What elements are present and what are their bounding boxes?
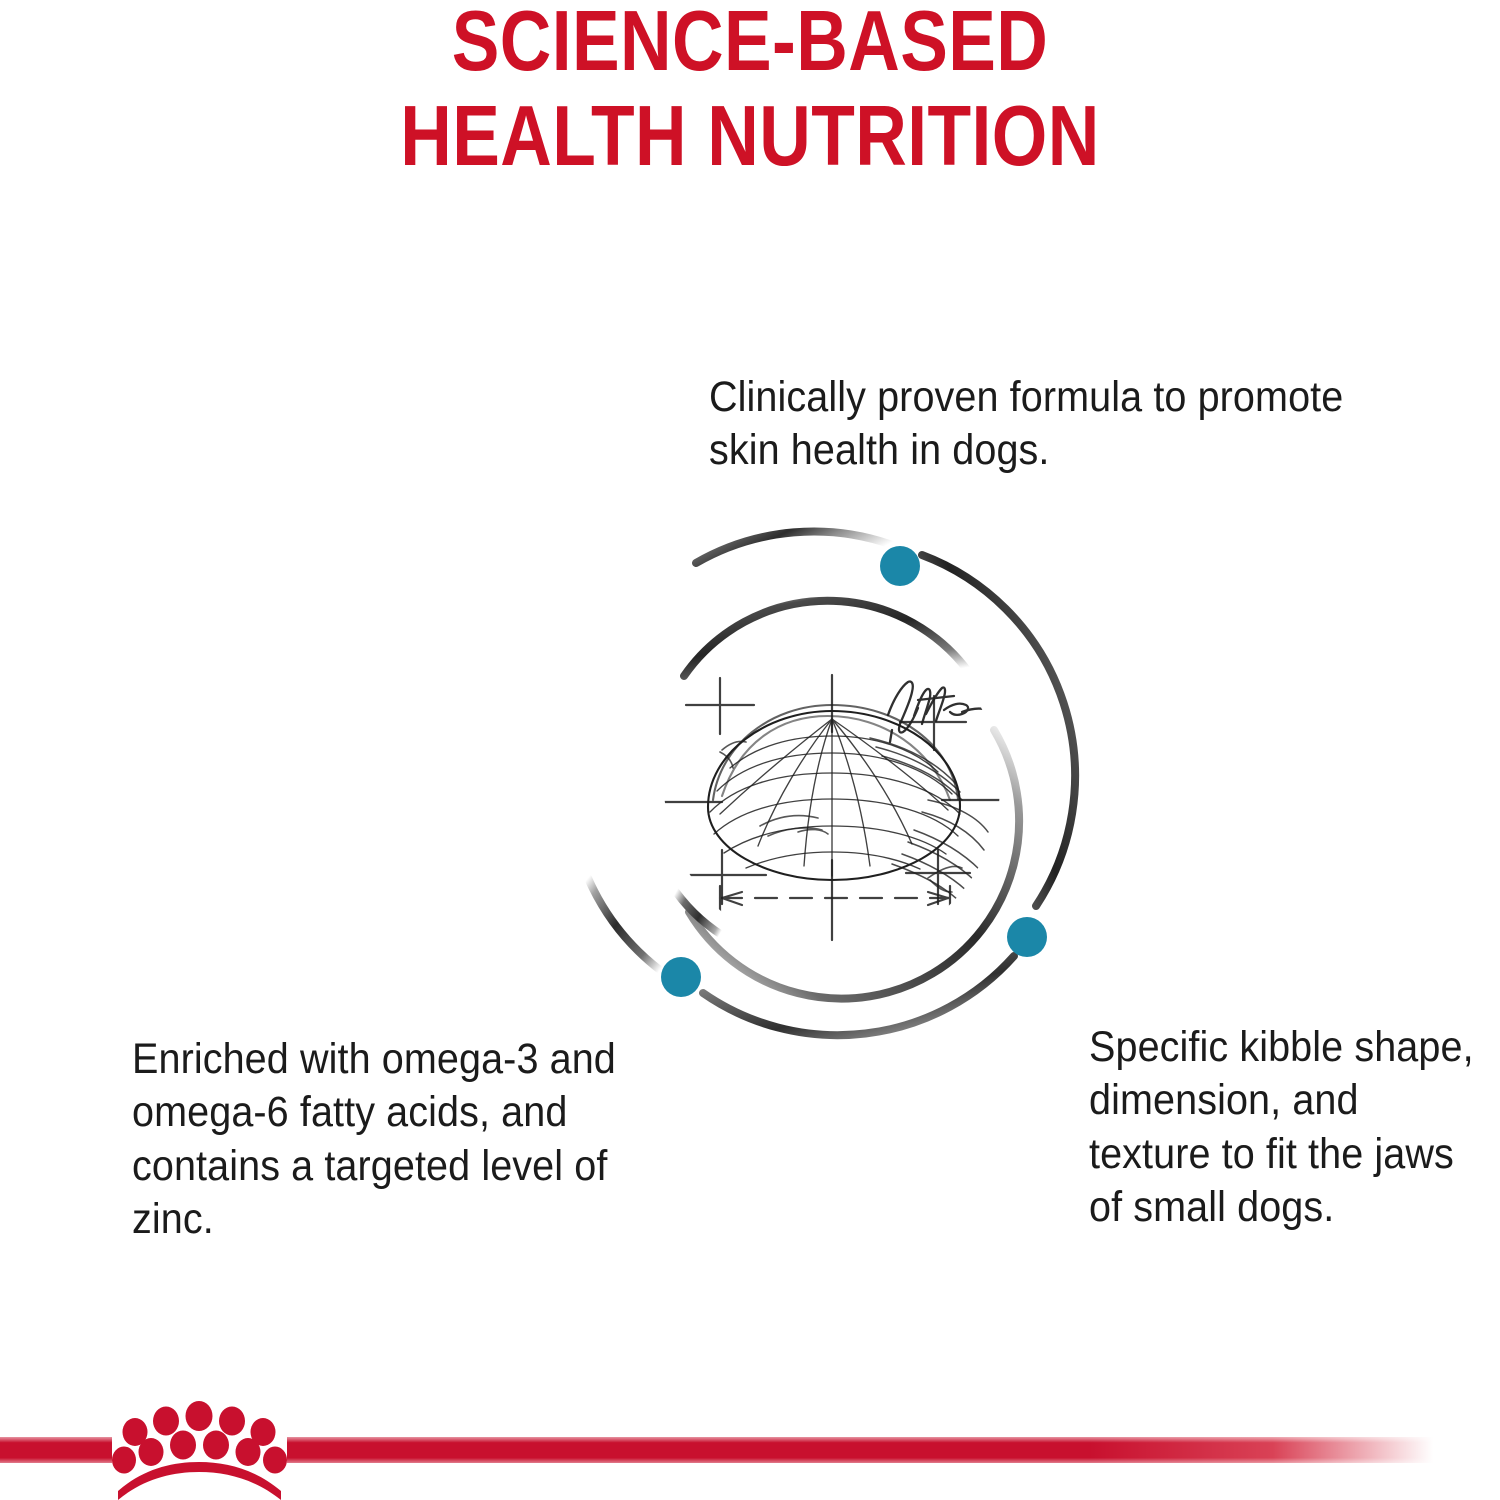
kibble-design-diagram [570,500,1090,1060]
headline-line-1: SCIENCE-BASED [120,0,1380,89]
sketch-flicks [720,741,962,892]
headline-line-2: HEALTH NUTRITION [120,89,1380,184]
royal-canin-crown-logo [112,1401,287,1500]
marker-dot-bottom-right [1007,917,1047,957]
marker-dot-bottom-left [661,957,701,997]
poster-canvas: SCIENCE-BASED HEALTH NUTRITION Clinicall… [0,0,1500,1500]
page-title: SCIENCE-BASED HEALTH NUTRITION [120,0,1380,184]
kibble-outline [708,705,960,880]
dimension-line [720,886,950,912]
benefit-text-kibble-shape: Specific kibble shape, dimension, and te… [1089,1021,1485,1234]
designer-signature [888,681,984,742]
marker-dot-top-right [880,546,920,586]
footer-bar-left [0,1437,112,1463]
footer-bar-right [287,1437,1433,1463]
kibble-sketch [658,675,1007,940]
benefit-text-omega-fatty-acids: Enriched with omega-3 and omega-6 fatty … [132,1033,647,1246]
benefit-text-clinically-proven: Clinically proven formula to promote ski… [709,371,1408,478]
brand-footer [0,1390,1500,1500]
